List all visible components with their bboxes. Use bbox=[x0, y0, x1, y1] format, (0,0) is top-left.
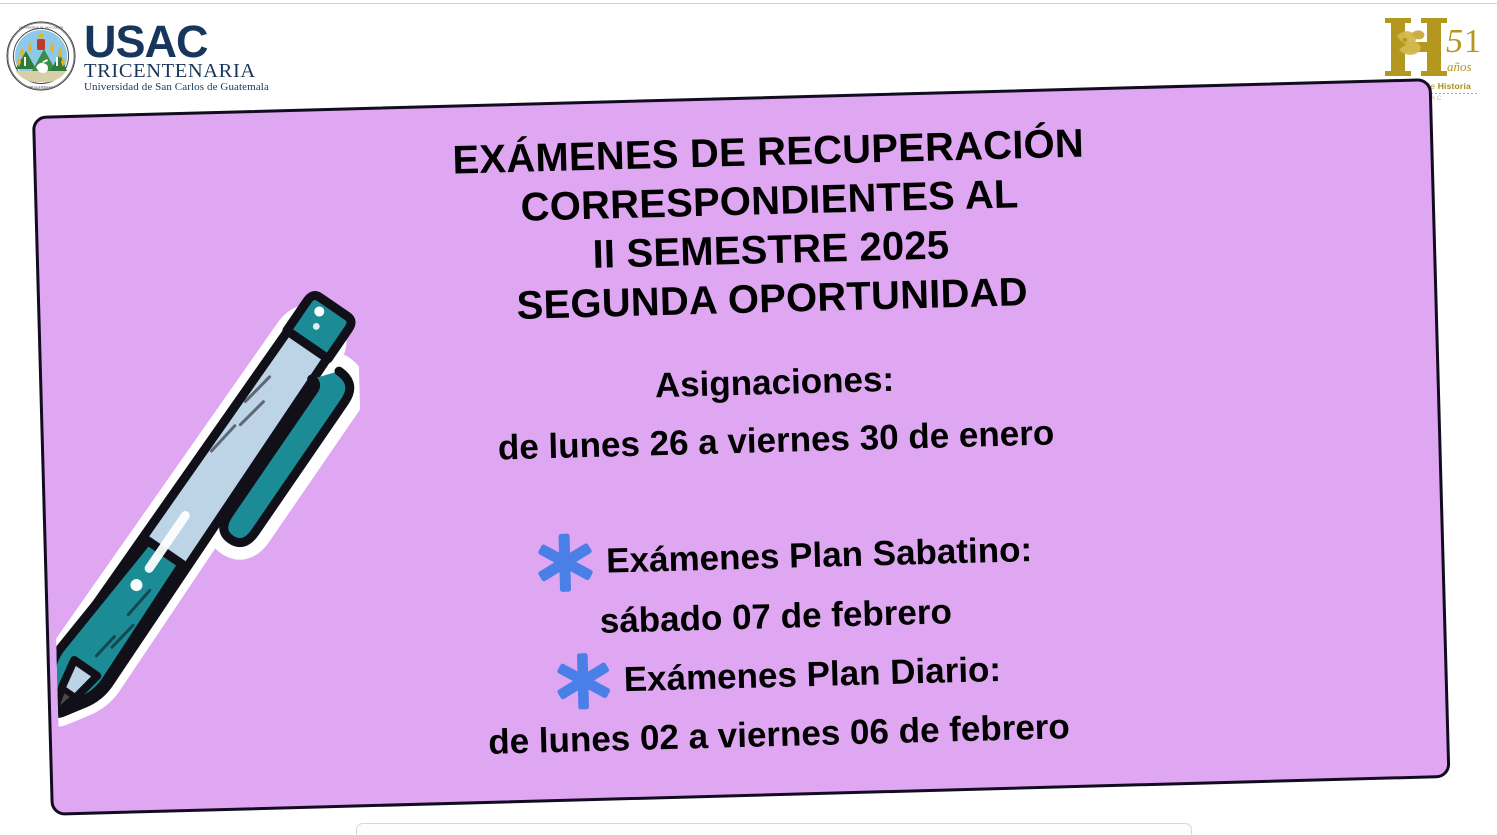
assignments-block: Asignaciones: de lunes 26 a viernes 30 d… bbox=[39, 336, 1442, 490]
historia-h-icon: 5 1 años bbox=[1375, 14, 1487, 80]
card-text-content: EXÁMENES DE RECUPERACIÓN CORRESPONDIENTE… bbox=[32, 78, 1450, 816]
plan-sabatino-title: Exámenes Plan Sabatino: bbox=[605, 521, 1032, 591]
svg-text:1: 1 bbox=[1464, 23, 1481, 60]
headline-block: EXÁMENES DE RECUPERACIÓN CORRESPONDIENTE… bbox=[33, 110, 1438, 344]
plans-block: Exámenes Plan Sabatino: sábado 07 de feb… bbox=[44, 508, 1450, 784]
historia-caption-strong: Historia bbox=[1438, 81, 1471, 91]
slide-canvas: UNIVERSIDAD DE SAN CARLOS DE GUATEMALA U… bbox=[0, 0, 1497, 835]
top-divider bbox=[0, 3, 1497, 4]
usac-word-main: USAC bbox=[84, 19, 269, 64]
usac-word-subtitle: Universidad de San Carlos de Guatemala bbox=[84, 82, 269, 93]
svg-text:UNIVERSIDAD DE SAN CARLOS: UNIVERSIDAD DE SAN CARLOS bbox=[19, 26, 64, 30]
announcement-card: EXÁMENES DE RECUPERACIÓN CORRESPONDIENTE… bbox=[32, 78, 1450, 816]
bottom-panel bbox=[356, 823, 1192, 835]
sparkle-icon bbox=[553, 650, 615, 712]
svg-text:5: 5 bbox=[1446, 23, 1463, 60]
svg-text:años: años bbox=[1447, 59, 1472, 74]
plan-diario-title: Exámenes Plan Diario: bbox=[623, 641, 1002, 709]
sparkle-icon bbox=[533, 531, 597, 595]
svg-text:DE GUATEMALA: DE GUATEMALA bbox=[29, 85, 53, 89]
usac-wordmark: USAC TRICENTENARIA Universidad de San Ca… bbox=[84, 19, 269, 94]
usac-word-tricentenaria: TRICENTENARIA bbox=[84, 61, 269, 82]
usac-logo: UNIVERSIDAD DE SAN CARLOS DE GUATEMALA U… bbox=[6, 16, 276, 96]
usac-seal-icon: UNIVERSIDAD DE SAN CARLOS DE GUATEMALA bbox=[6, 21, 76, 91]
